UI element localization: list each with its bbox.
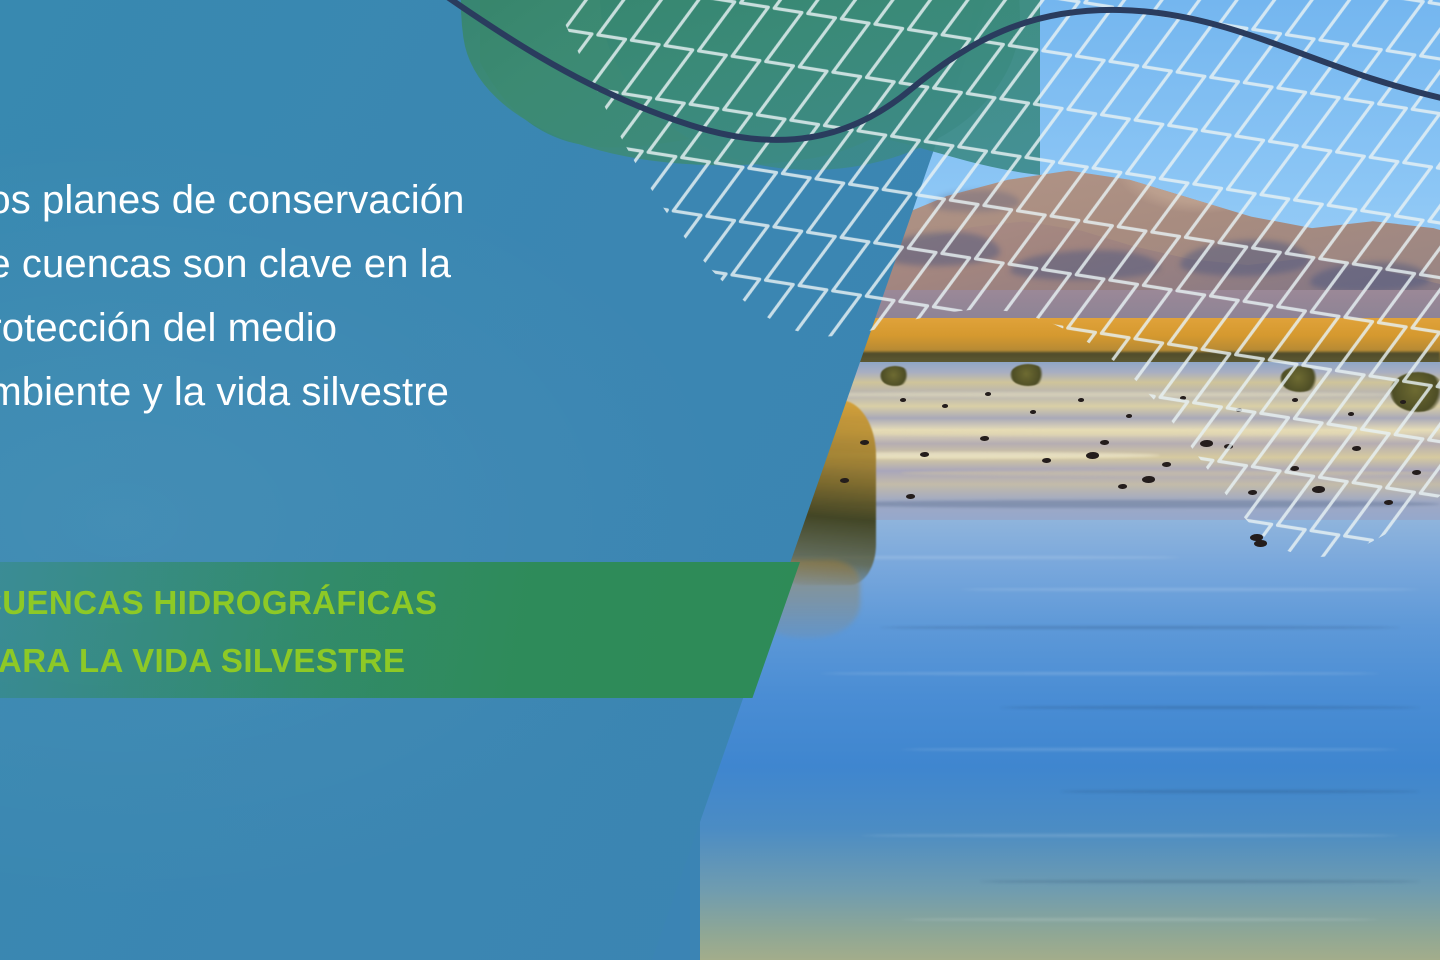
headline-line-4: ambiente y la vida silvestre: [0, 360, 646, 424]
photo-waterbird: [1162, 462, 1171, 467]
photo-waterbird: [1400, 400, 1406, 404]
photo-water-ripple: [860, 834, 1400, 837]
photo-waterbird: [942, 404, 948, 408]
photo-waterbird: [1030, 410, 1036, 414]
photo-water-ripple: [900, 748, 1400, 751]
photo-waterbird: [900, 398, 906, 402]
photo-waterbird: [1118, 484, 1127, 489]
slide-canvas: Los planes de conservación de cuencas so…: [0, 0, 1440, 960]
photo-waterbird: [1248, 490, 1257, 495]
photo-water-ripple: [980, 880, 1420, 883]
headline: Los planes de conservación de cuencas so…: [0, 168, 646, 424]
headline-line-1: Los planes de conservación: [0, 168, 646, 232]
photo-waterbird: [985, 392, 991, 396]
photo-waterbird: [1290, 466, 1299, 471]
photo-reed-clump: [880, 366, 910, 386]
photo-marsh-band: [760, 392, 1400, 397]
photo-waterbird: [980, 436, 989, 441]
photo-waterbird: [1078, 398, 1084, 402]
photo-waterbird: [1236, 408, 1242, 412]
photo-waterbird: [1254, 540, 1267, 547]
photo-waterbird: [1224, 444, 1233, 449]
photo-marsh-band: [800, 430, 1420, 436]
photo-waterbird: [1180, 396, 1186, 400]
photo-waterbird: [1200, 440, 1213, 447]
photo-waterbird: [1042, 458, 1051, 463]
photo-waterbird: [1142, 476, 1155, 483]
photo-marsh-band: [820, 500, 1440, 508]
photo-water-ripple: [960, 588, 1420, 591]
photo-water-ripple: [820, 672, 1380, 675]
photo-waterbird: [1384, 500, 1393, 505]
photo-waterbird: [1412, 470, 1421, 475]
photo-waterbird: [1352, 446, 1361, 451]
photo-waterbird: [906, 494, 915, 499]
photo-reed-clump: [1010, 364, 1046, 386]
photo-reed-clump: [1280, 366, 1320, 392]
photo-waterbird: [1126, 414, 1132, 418]
photo-waterbird: [860, 440, 869, 445]
photo-reed-clump: [1390, 372, 1440, 412]
photo-waterbird: [1312, 486, 1325, 493]
photo-waterbird: [920, 452, 929, 457]
photo-water-ripple: [900, 918, 1380, 921]
headline-line-3: protección del medio: [0, 296, 646, 360]
photo-waterbird: [1348, 412, 1354, 416]
photo-waterbird: [1292, 398, 1298, 402]
headline-line-2: de cuencas son clave en la: [0, 232, 646, 296]
photo-marsh-band: [900, 470, 1440, 476]
banner-title: CUENCAS HIDROGRÁFICAS PARA LA VIDA SILVE…: [0, 574, 738, 690]
banner-line-2: PARA LA VIDA SILVESTRE: [0, 632, 738, 690]
photo-water-ripple: [880, 626, 1400, 629]
banner-line-1: CUENCAS HIDROGRÁFICAS: [0, 574, 738, 632]
photo-waterbird: [840, 478, 849, 483]
photo-waterbird: [1086, 452, 1099, 459]
photo-water-ripple: [1060, 790, 1420, 793]
photo-water-ripple: [1000, 706, 1420, 709]
photo-waterbird: [1100, 440, 1109, 445]
